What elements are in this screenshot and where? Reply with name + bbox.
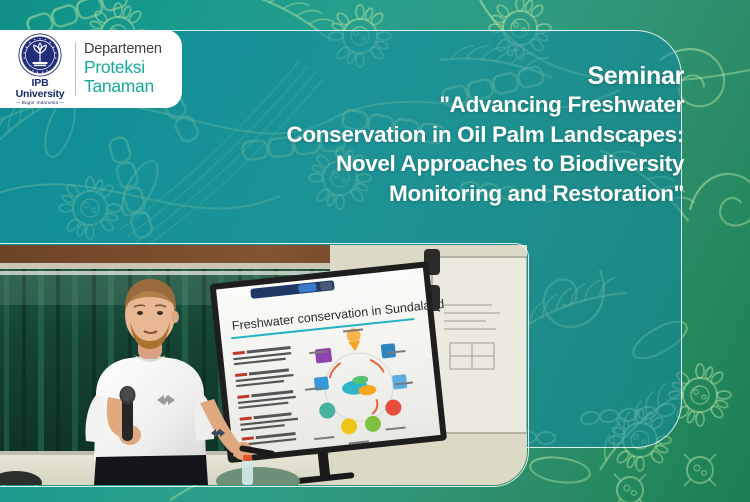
department-name-block: Departemen Proteksi Tanaman — [84, 41, 162, 96]
seminar-title-line-2: Conservation in Oil Palm Landscapes: — [234, 121, 684, 150]
department-line-3: Tanaman — [84, 77, 162, 97]
logo-divider — [75, 42, 76, 96]
seminar-title-block: Seminar "Advancing Freshwater Conservati… — [234, 62, 684, 208]
department-line-2: Proteksi — [84, 58, 162, 78]
ipb-logo: IPB University — Bogor Indonesia — — [9, 33, 71, 106]
seminar-kicker: Seminar — [234, 62, 684, 90]
seminar-poster: IPB University — Bogor Indonesia — Depar… — [0, 0, 750, 502]
seminar-title-line-4: Monitoring and Restoration" — [234, 180, 684, 209]
seminar-title-line-3: Novel Approaches to Biodiversity — [234, 150, 684, 179]
department-logo-card: IPB University — Bogor Indonesia — Depar… — [0, 30, 182, 108]
ipb-university-name: IPB University — [9, 78, 71, 100]
seminar-photo: Freshwater conservation in Sundaland — [0, 245, 527, 485]
ipb-seal-icon — [18, 33, 62, 77]
department-line-1: Departemen — [84, 41, 162, 57]
seminar-title-line-1: "Advancing Freshwater — [234, 91, 684, 120]
ipb-university-tagline: — Bogor Indonesia — — [9, 100, 71, 105]
